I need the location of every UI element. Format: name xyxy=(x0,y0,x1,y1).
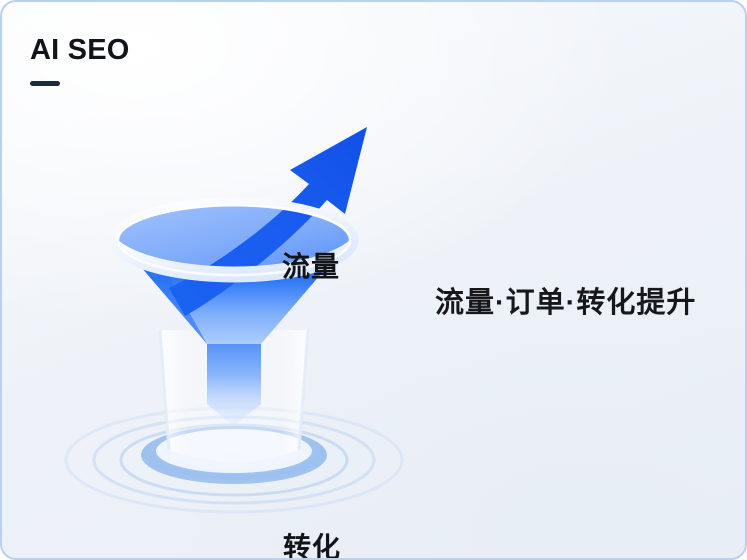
page-title-text: AI SEO xyxy=(30,36,130,65)
title-accent-rule xyxy=(30,81,60,86)
seo-funnel-illustration: 流量 转化 xyxy=(57,92,477,522)
tagline-text: 流量·订单·转化提升 xyxy=(435,279,696,321)
label-conversion: 转化 xyxy=(283,526,341,560)
seo-promo-card: AI SEO xyxy=(0,0,747,560)
page-title: AI SEO xyxy=(30,36,130,86)
label-traffic: 流量 xyxy=(282,245,340,285)
